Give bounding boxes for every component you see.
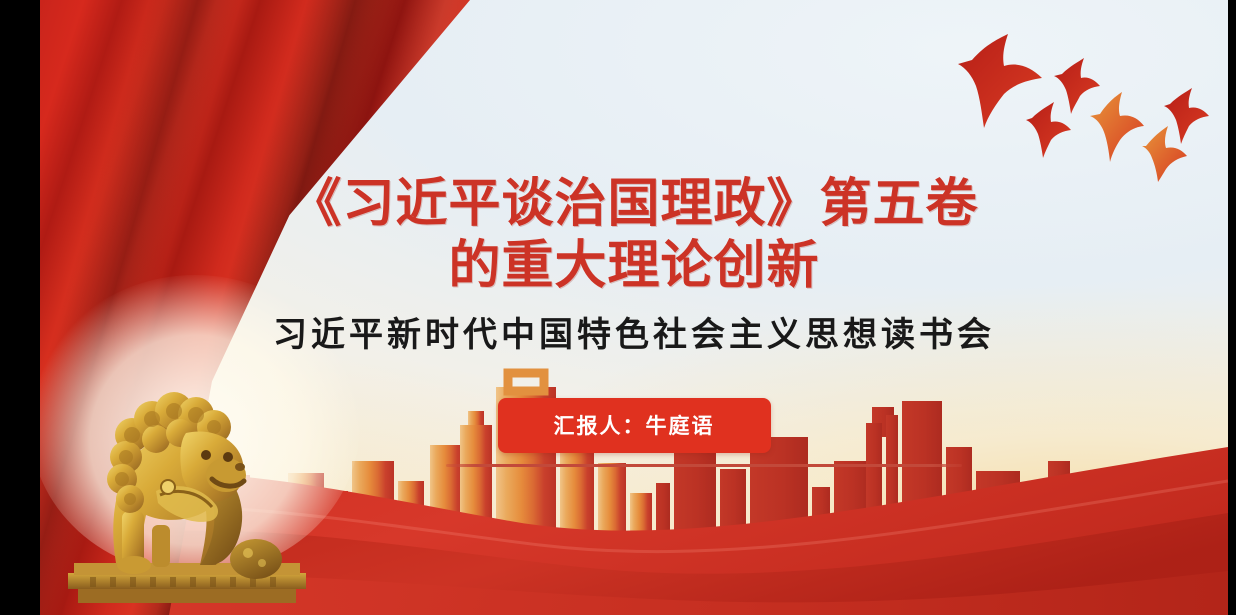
slide-subtitle: 习近平新时代中国特色社会主义思想读书会 <box>40 318 1228 352</box>
presentation-slide: 《习近平谈治国理政》第五卷 的重大理论创新 习近平新时代中国特色社会主义思想读书… <box>0 0 1236 615</box>
slide-canvas: 《习近平谈治国理政》第五卷 的重大理论创新 习近平新时代中国特色社会主义思想读书… <box>40 0 1228 615</box>
letterbox-bar-right <box>1228 0 1236 615</box>
presenter-row: 汇报人：牛庭语 <box>40 398 1228 453</box>
slide-title-line-1: 《习近平谈治国理政》第五卷 <box>40 178 1228 230</box>
slide-content: 《习近平谈治国理政》第五卷 的重大理论创新 习近平新时代中国特色社会主义思想读书… <box>40 0 1228 615</box>
title-divider-rule <box>446 464 962 467</box>
presenter-badge: 汇报人：牛庭语 <box>498 398 771 453</box>
letterbox-bar-left <box>0 0 40 615</box>
slide-title-line-2: 的重大理论创新 <box>40 240 1228 292</box>
